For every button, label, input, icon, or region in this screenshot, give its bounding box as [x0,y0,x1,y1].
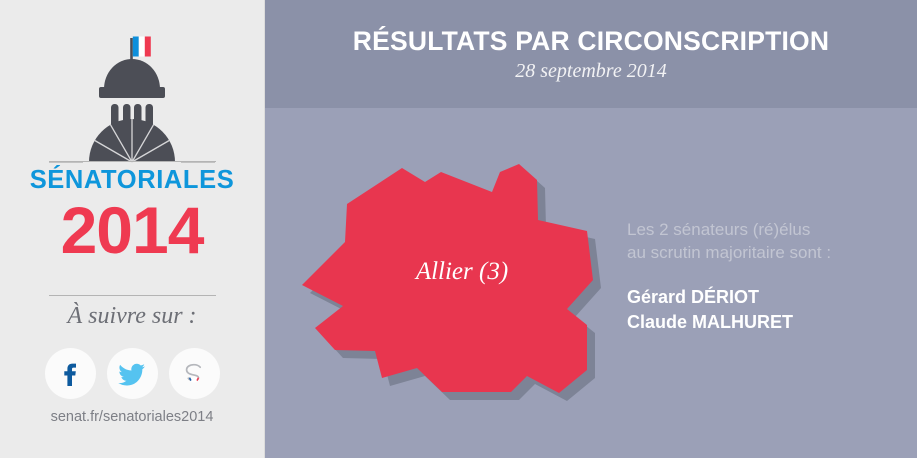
map-polygon [302,164,593,393]
results-intro-line1: Les 2 sénateurs (ré)élus [627,218,907,241]
facebook-link[interactable] [45,348,96,399]
french-flag-icon [133,37,151,57]
twitter-link[interactable] [107,348,158,399]
site-url[interactable]: senat.fr/senatoriales2014 [0,409,264,425]
results-intro: Les 2 sénateurs (ré)élus au scrutin majo… [627,218,907,264]
infographic-canvas: SÉNATORIALES 2014 À suivre sur : [0,0,917,458]
left-branding-panel: SÉNATORIALES 2014 À suivre sur : [0,0,265,458]
social-links-row [0,348,264,399]
hemicycle-icon [89,119,175,162]
brand-year: 2014 [0,198,264,263]
follow-label: À suivre sur : [0,303,264,330]
divider-top [49,161,216,162]
senate-emblem [0,14,264,164]
senat-logo-icon [178,358,210,390]
senator-name: Claude MALHURET [627,310,907,335]
header-band: RÉSULTATS PAR CIRCONSCRIPTION 28 septemb… [265,0,917,108]
divider-middle [49,295,216,296]
page-subtitle: 28 septembre 2014 [265,60,917,83]
senat-link[interactable] [169,348,220,399]
results-intro-line2: au scrutin majoritaire sont : [627,241,907,264]
senator-name: Gérard DÉRIOT [627,285,907,310]
senate-dome-icon [99,59,165,98]
results-block: Les 2 sénateurs (ré)élus au scrutin majo… [627,218,907,335]
senators-list: Gérard DÉRIOT Claude MALHURET [627,285,907,335]
brand-senatoriales: SÉNATORIALES [0,168,264,194]
page-title: RÉSULTATS PAR CIRCONSCRIPTION [265,26,917,57]
brand-block: SÉNATORIALES 2014 [0,168,264,262]
twitter-icon [116,358,148,390]
facebook-icon [55,359,85,389]
